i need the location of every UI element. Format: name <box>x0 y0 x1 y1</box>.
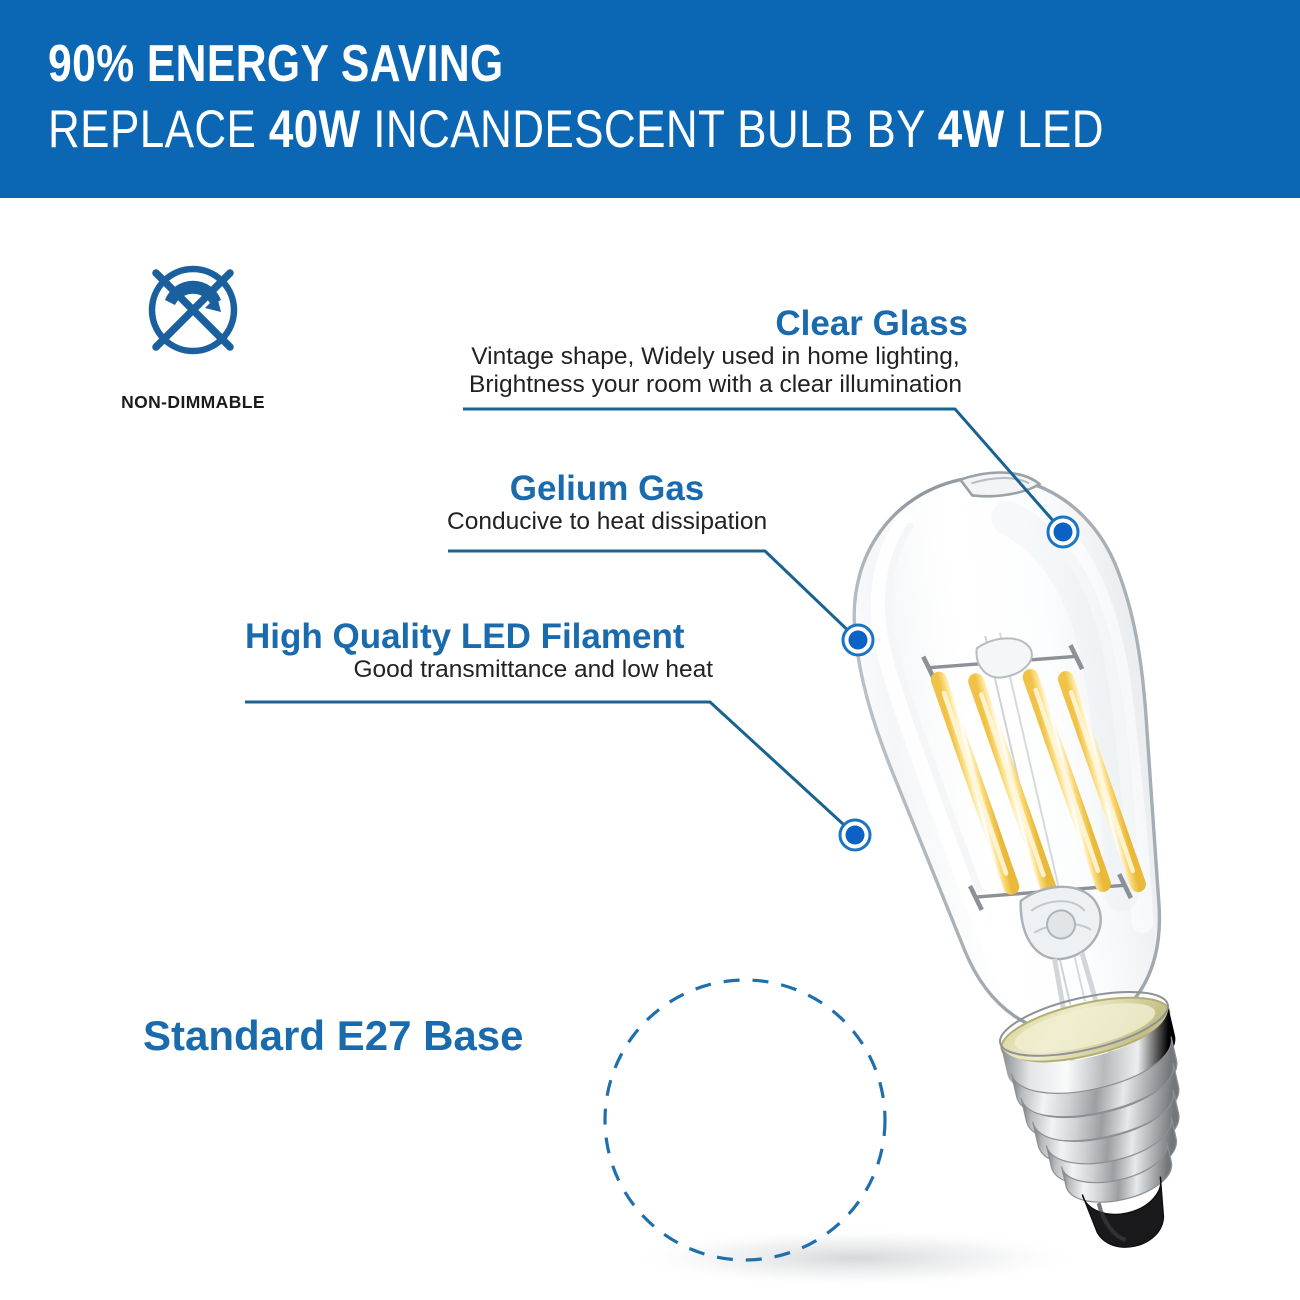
non-dimmable-badge: NON-DIMMABLE <box>78 250 308 413</box>
callout-sub2-clear-glass: Brightness your room with a clear illumi… <box>463 371 968 399</box>
callout-led-filament: High Quality LED Filament Good transmitt… <box>245 618 713 684</box>
callout-title-clear-glass: Clear Glass <box>463 305 968 343</box>
bulb-shadow <box>625 1228 1085 1288</box>
bulb-body-group <box>823 448 1270 1277</box>
callout-clear-glass: Clear Glass Vintage shape, Widely used i… <box>463 305 968 399</box>
callout-sub1-led-filament: Good transmittance and low heat <box>245 656 713 684</box>
infographic-page: 90% ENERGY SAVING REPLACE 40W INCANDESCE… <box>0 0 1300 1300</box>
callout-title-gelium-gas: Gelium Gas <box>447 470 767 508</box>
non-dimmable-icon-svg <box>133 250 253 370</box>
callout-sub1-gelium-gas: Conducive to heat dissipation <box>447 508 767 536</box>
callout-title-e27-base: Standard E27 Base <box>143 1013 524 1058</box>
callout-title-led-filament: High Quality LED Filament <box>245 618 713 656</box>
non-dimmable-icon <box>133 250 253 370</box>
callout-e27-base: Standard E27 Base <box>143 1013 524 1058</box>
non-dimmable-label: NON-DIMMABLE <box>78 392 308 413</box>
callout-gelium-gas: Gelium Gas Conducive to heat dissipation <box>447 470 767 536</box>
callout-sub1-clear-glass: Vintage shape, Widely used in home light… <box>463 343 968 371</box>
